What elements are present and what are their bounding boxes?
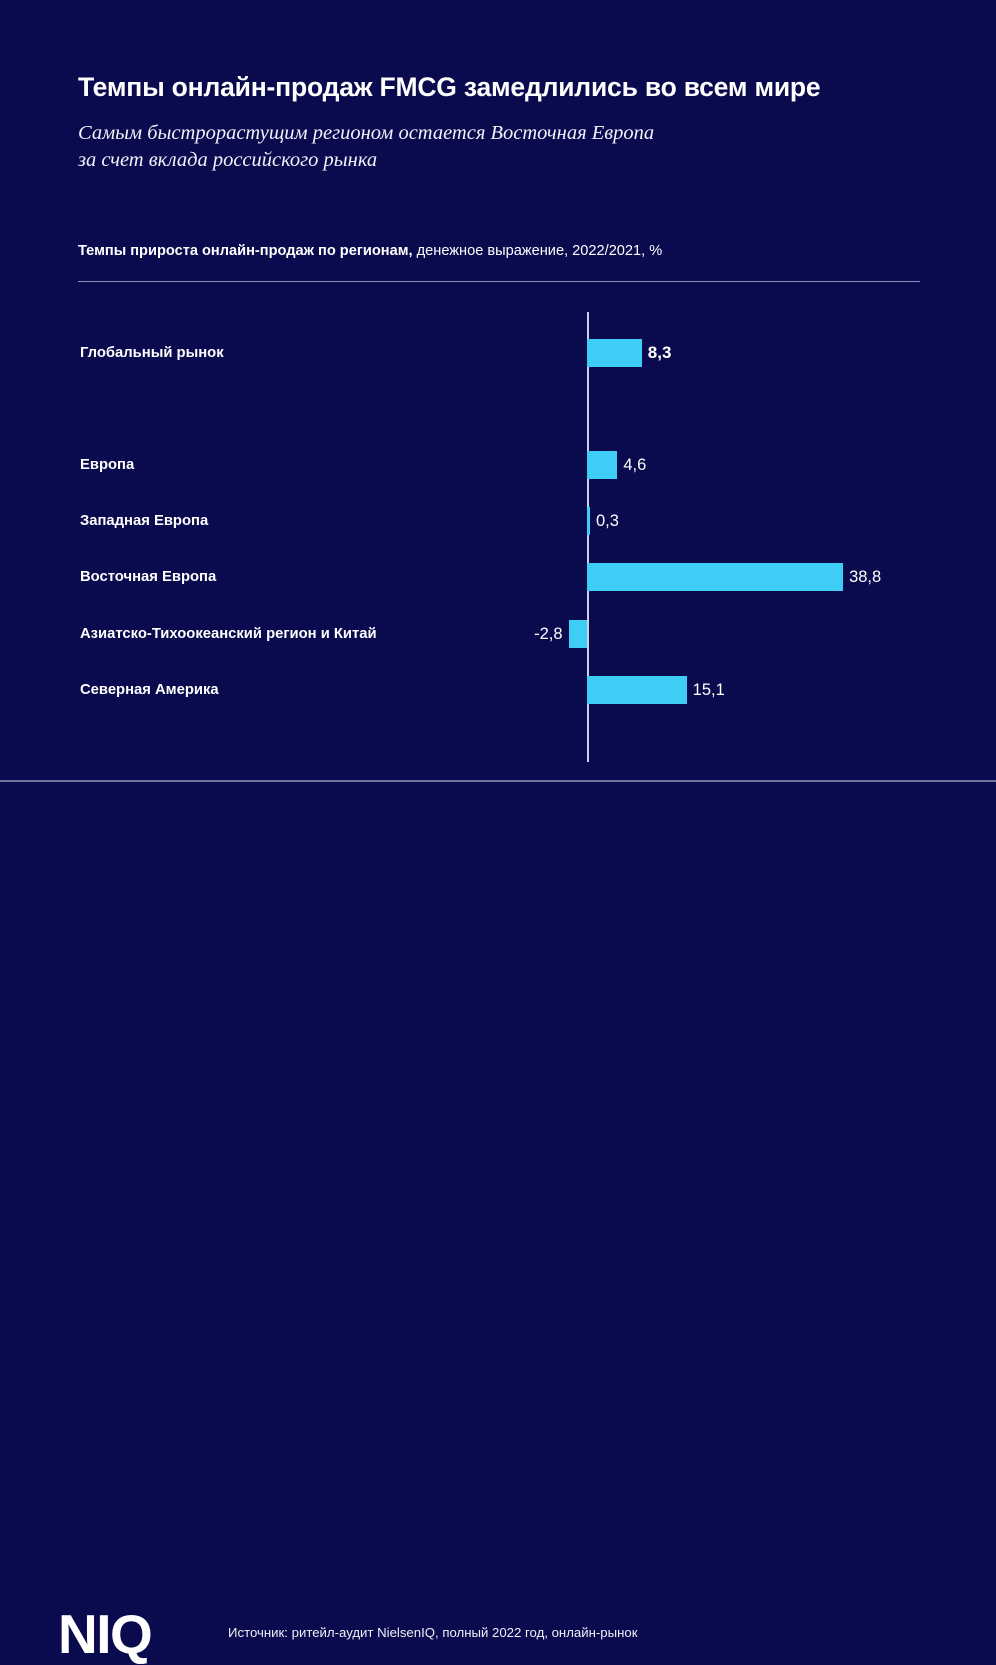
source-note: Источник: ритейл-аудит NielsenIQ, полный… xyxy=(228,1625,638,1640)
bar-rect xyxy=(587,676,687,704)
bar-rect xyxy=(587,563,843,591)
bar-rect xyxy=(587,507,590,535)
bar-value-label: 38,8 xyxy=(849,562,881,592)
bar-value-label: -2,8 xyxy=(534,619,562,649)
footer-block: NIQ Источник: ритейл-аудит NielsenIQ, по… xyxy=(0,782,996,900)
bar-row: Западная Европа0,3 xyxy=(0,506,996,536)
bar-category-label: Западная Европа xyxy=(80,506,208,536)
bar-row: Северная Америка15,1 xyxy=(0,675,996,705)
bar-category-label: Восточная Европа xyxy=(80,562,216,592)
bar-value-label: 4,6 xyxy=(623,450,646,480)
bar-row: Азиатско-Тихоокеанский регион и Китай-2,… xyxy=(0,619,996,649)
bar-rect xyxy=(569,620,587,648)
bar-value-label: 0,3 xyxy=(596,506,619,536)
niq-logo: NIQ xyxy=(58,1607,151,1662)
bar-row: Глобальный рынок8,3 xyxy=(0,338,996,368)
bar-row: Европа4,6 xyxy=(0,450,996,480)
bar-category-label: Европа xyxy=(80,450,134,480)
bar-category-label: Северная Америка xyxy=(80,675,219,705)
slide-root: Темпы онлайн-продаж FMCG замедлились во … xyxy=(0,0,996,900)
bar-value-label: 15,1 xyxy=(693,675,725,705)
bar-category-label: Азиатско-Тихоокеанский регион и Китай xyxy=(80,619,377,649)
bar-category-label: Глобальный рынок xyxy=(80,338,224,368)
chart-plot-area: Глобальный рынок8,3Европа4,6Западная Евр… xyxy=(0,0,996,900)
bar-rect xyxy=(587,451,617,479)
bar-row: Восточная Европа38,8 xyxy=(0,562,996,592)
bar-value-label: 8,3 xyxy=(648,338,672,368)
bar-rect xyxy=(587,339,642,367)
